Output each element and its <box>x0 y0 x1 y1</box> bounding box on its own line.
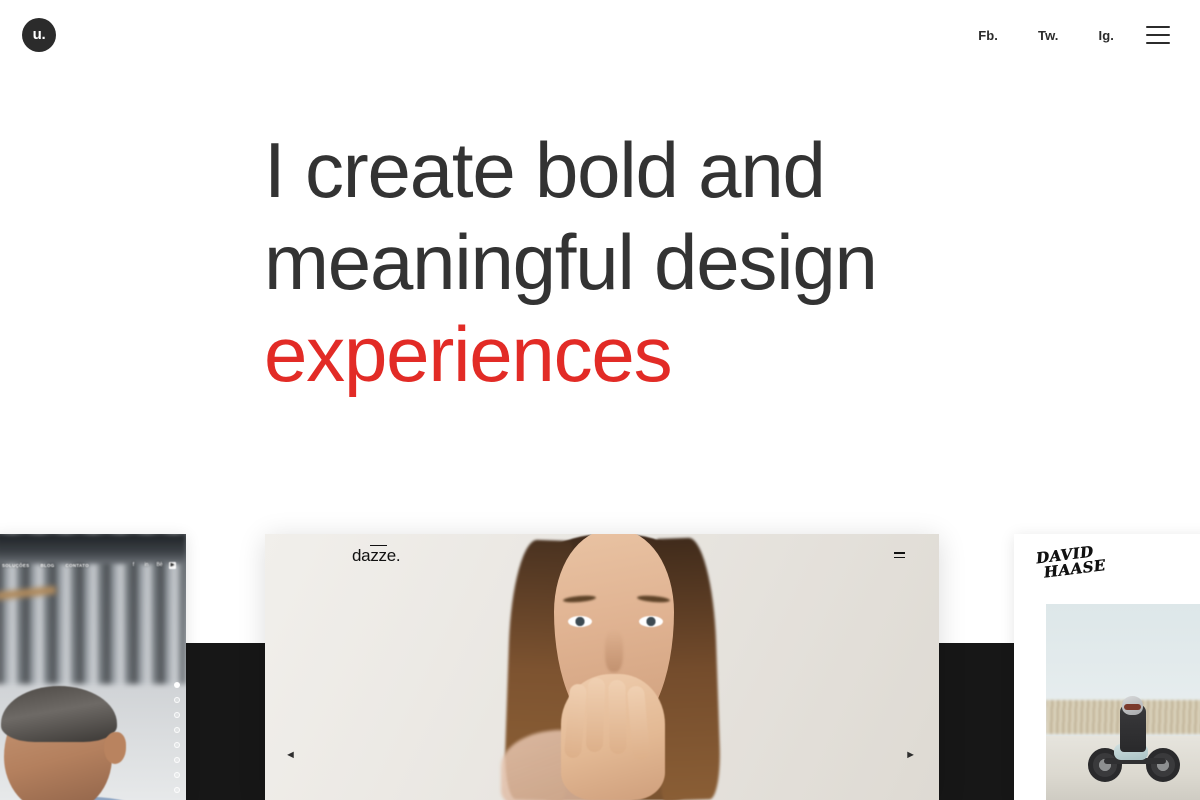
model-eye-left <box>568 616 592 627</box>
card-right-photo <box>1046 604 1200 800</box>
hero-headline-line-2: meaningful design <box>264 216 1164 308</box>
header-nav: Fb. Tw. Ig. <box>958 26 1170 44</box>
slider-dot[interactable] <box>174 787 180 793</box>
slider-dot[interactable] <box>174 697 180 703</box>
card-left-nav-contato[interactable]: CONTATO <box>66 563 89 568</box>
nav-link-instagram[interactable]: Ig. <box>1079 29 1134 42</box>
carousel-next-arrow-icon[interactable]: ► <box>905 750 916 761</box>
equals-bar-2 <box>894 557 905 559</box>
youtube-icon[interactable]: ▶ <box>169 562 176 569</box>
slider-dot[interactable] <box>174 757 180 763</box>
hamburger-bar-3 <box>1146 42 1170 44</box>
nav-link-facebook[interactable]: Fb. <box>958 29 1018 42</box>
behance-icon[interactable]: Bē <box>156 562 163 569</box>
site-logo-text: u. <box>33 26 46 43</box>
hero-section: I create bold and meaningful design expe… <box>264 124 1164 400</box>
rider-visor <box>1124 704 1141 710</box>
carousel-prev-arrow-icon[interactable]: ◄ <box>285 750 296 761</box>
david-haase-logo[interactable]: DAVID HAASE <box>1035 541 1129 603</box>
nav-link-twitter[interactable]: Tw. <box>1018 29 1079 42</box>
card-left-social-group: f in Bē ▶ <box>130 562 180 569</box>
dazze-logo-part3: e. <box>387 546 401 565</box>
hamburger-menu-icon[interactable] <box>1146 26 1170 44</box>
page-root: u. Fb. Tw. Ig. I create bold and meaning… <box>0 0 1200 800</box>
site-logo[interactable]: u. <box>22 18 56 52</box>
slider-dot[interactable] <box>174 682 180 688</box>
hamburger-bar-2 <box>1146 34 1170 36</box>
dark-band-right <box>938 643 1014 800</box>
card-left-slider-dots[interactable] <box>174 682 180 800</box>
site-header: u. Fb. Tw. Ig. <box>0 0 1200 70</box>
equals-menu-icon[interactable] <box>894 552 905 558</box>
facebook-icon[interactable]: f <box>130 562 137 569</box>
dazze-logo-part1: da <box>352 546 370 565</box>
dark-band-left <box>186 643 266 800</box>
person-hair <box>1 686 117 742</box>
card-left-nav-blog[interactable]: BLOG <box>40 563 54 568</box>
slider-dot[interactable] <box>174 712 180 718</box>
model-eye-right <box>639 616 663 627</box>
card-left-nav-solucoes[interactable]: SOLUÇÕES <box>2 563 29 568</box>
equals-bar-1 <box>894 552 905 554</box>
motorcycle-wheel <box>1146 748 1180 782</box>
card-left-nav: SOLUÇÕES BLOG CONTATO f in Bē ▶ <box>0 552 186 578</box>
dazze-logo[interactable]: dazze. <box>352 547 400 564</box>
person-ear <box>104 732 126 764</box>
slider-dot[interactable] <box>174 772 180 778</box>
model-finger <box>586 678 606 753</box>
slider-dot[interactable] <box>174 742 180 748</box>
showcase-card-left[interactable]: SOLUÇÕES BLOG CONTATO f in Bē ▶ <box>0 534 186 800</box>
hero-headline-line-3: experiences <box>264 308 1164 400</box>
linkedin-icon[interactable]: in <box>143 562 150 569</box>
dazze-logo-part2: zz <box>370 546 386 565</box>
model-finger <box>608 680 626 754</box>
showcase-card-right[interactable]: DAVID HAASE <box>1014 534 1200 800</box>
slider-dot[interactable] <box>174 727 180 733</box>
model-nose <box>605 630 623 672</box>
card-center-topbar: dazze. <box>265 534 939 576</box>
hero-headline-line-1: I create bold and <box>264 124 1164 216</box>
showcase-card-center[interactable]: dazze. ◄ ► <box>265 534 939 800</box>
hamburger-bar-1 <box>1146 26 1170 28</box>
